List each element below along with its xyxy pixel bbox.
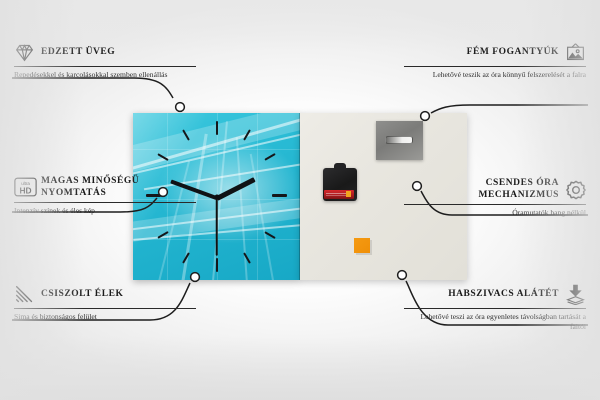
- connector-metal-hangers: [431, 105, 588, 113]
- infographic-stage: EDZETT ÜVEG Repedésekkel és karcolásokka…: [0, 0, 600, 400]
- callout-header: CSISZOLT ÉLEK: [14, 284, 196, 305]
- hanger-slot: [385, 136, 413, 144]
- callout-silent-mechanism: CSENDES ÓRA MECHANIZMUS Óramutatók hang …: [404, 178, 586, 218]
- diamond-icon: [14, 42, 35, 63]
- callout-rule: [14, 66, 196, 67]
- callout-subtitle: Sima és biztonságos felület: [14, 312, 196, 322]
- ultra-hd-icon: ultra HD: [14, 177, 35, 198]
- callout-subtitle: Lehetővé teszi az óra egyenletes távolsá…: [404, 312, 586, 331]
- callout-title: MAGAS MINŐSÉGŰ NYOMTATÁS: [41, 176, 196, 199]
- arrow-down-layers-icon: [565, 284, 586, 305]
- callout-title: FÉM FOGANTYÚK: [467, 47, 559, 59]
- callout-foam-pad: HABSZIVACS ALÁTÉT Lehetővé teszi az óra …: [404, 284, 586, 331]
- callout-rule: [14, 308, 196, 309]
- callout-subtitle: Repedésekkel és karcolásokkal szemben el…: [14, 70, 196, 80]
- callout-title: CSISZOLT ÉLEK: [41, 289, 123, 301]
- callout-polished-edges: CSISZOLT ÉLEK Sima és biztonságos felüle…: [14, 284, 196, 322]
- battery-plus-terminal: [346, 191, 351, 197]
- battery: [324, 190, 354, 199]
- metal-hanger-plate: [376, 121, 423, 160]
- callout-rule: [404, 66, 586, 67]
- callout-subtitle: Lehetővé teszik az óra könnyű felszerelé…: [404, 70, 586, 80]
- callout-header: FÉM FOGANTYÚK: [404, 42, 586, 63]
- picture-frame-hanger-icon: [565, 42, 586, 63]
- callout-rule: [14, 202, 196, 203]
- mechanism-tab: [334, 163, 346, 170]
- callout-subtitle: Óramutatók hang nélkül: [404, 208, 586, 218]
- callout-title: EDZETT ÜVEG: [41, 47, 115, 59]
- callout-header: EDZETT ÜVEG: [14, 42, 196, 63]
- callout-high-quality-print: ultra HD MAGAS MINŐSÉGŰ NYOMTATÁS Intenz…: [14, 176, 196, 216]
- callout-title: CSENDES ÓRA MECHANIZMUS: [404, 178, 559, 201]
- svg-text:HD: HD: [19, 186, 31, 196]
- hour-hand: [215, 177, 255, 200]
- clock-mechanism: [323, 168, 357, 201]
- callout-header: ultra HD MAGAS MINŐSÉGŰ NYOMTATÁS: [14, 176, 196, 199]
- callout-subtitle: Intenzív színek és éles kép: [14, 206, 196, 216]
- connector-dot-tempered-glass: [176, 103, 185, 112]
- battery-label-lines: [326, 193, 346, 194]
- gear-icon: [565, 179, 586, 200]
- callout-tempered-glass: EDZETT ÜVEG Repedésekkel és karcolásokka…: [14, 42, 196, 80]
- beveled-edge-icon: [14, 284, 35, 305]
- callout-rule: [404, 204, 586, 205]
- foam-spacer-pad: [354, 238, 370, 253]
- callout-metal-hangers: FÉM FOGANTYÚK Lehetővé teszik az óra kön…: [404, 42, 586, 80]
- second-hand: [216, 197, 218, 255]
- callout-title: HABSZIVACS ALÁTÉT: [448, 289, 559, 301]
- callout-rule: [404, 308, 586, 309]
- connector-tempered-glass: [12, 78, 173, 98]
- clock-pivot: [214, 194, 219, 199]
- callout-header: CSENDES ÓRA MECHANIZMUS: [404, 178, 586, 201]
- callout-header: HABSZIVACS ALÁTÉT: [404, 284, 586, 305]
